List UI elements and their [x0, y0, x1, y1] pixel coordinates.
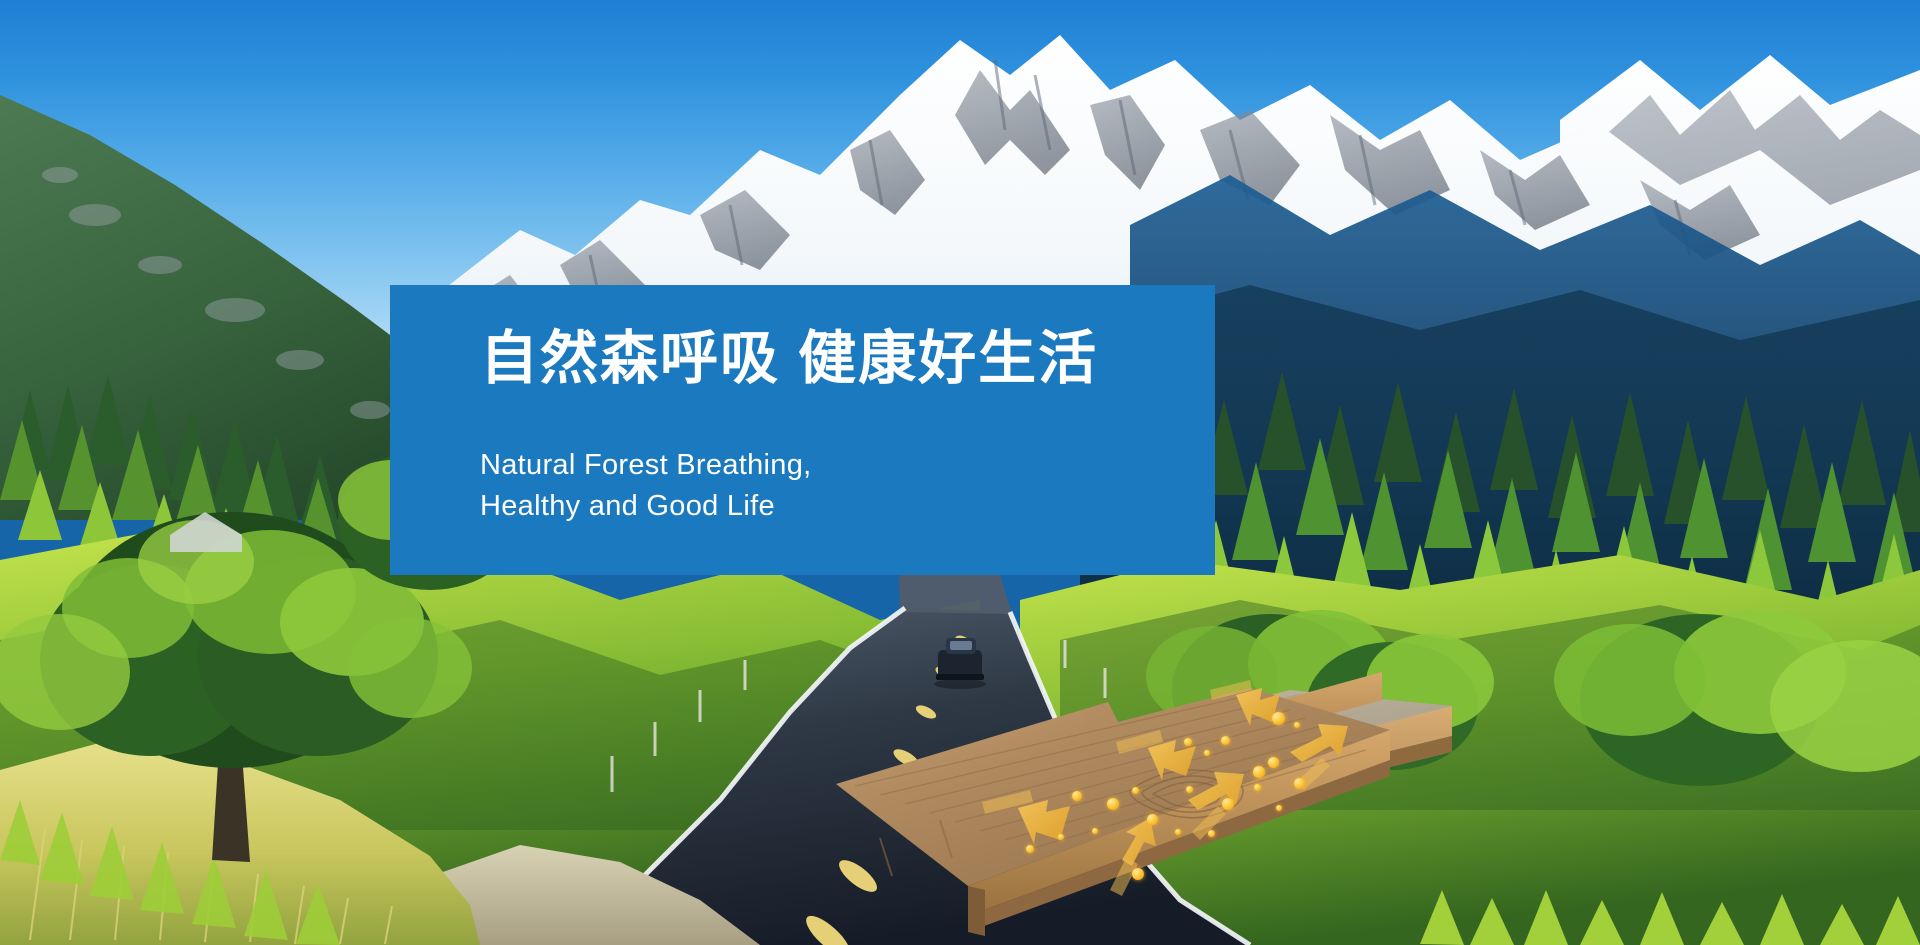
- particle: [1072, 791, 1082, 801]
- particle: [1107, 798, 1119, 810]
- particle: [1058, 834, 1064, 840]
- page-subtitle: Natural Forest Breathing, Healthy and Go…: [480, 445, 811, 526]
- particle: [1147, 814, 1158, 825]
- particle: [1026, 845, 1034, 853]
- particle: [1132, 787, 1139, 794]
- particle: [1294, 778, 1305, 789]
- subtitle-line-1: Natural Forest Breathing,: [480, 445, 811, 486]
- headline-panel: 自然森呼吸 健康好生活 Natural Forest Breathing, He…: [390, 285, 1215, 575]
- particle: [1186, 786, 1193, 793]
- particle: [1221, 736, 1230, 745]
- particle: [1222, 798, 1234, 810]
- particle: [1184, 738, 1192, 746]
- particle: [1092, 828, 1098, 834]
- particle: [1208, 830, 1215, 837]
- subtitle-line-2: Healthy and Good Life: [480, 486, 811, 527]
- particle: [1268, 757, 1279, 768]
- particle: [1254, 784, 1261, 791]
- particle: [1175, 829, 1181, 835]
- particle: [1132, 868, 1144, 880]
- particle: [1204, 750, 1210, 756]
- particle: [1253, 766, 1265, 778]
- particle: [1272, 712, 1285, 725]
- particle: [1276, 805, 1282, 811]
- hero-banner: 自然森呼吸 健康好生活 Natural Forest Breathing, He…: [0, 0, 1920, 945]
- page-title: 自然森呼吸 健康好生活: [480, 327, 1098, 392]
- particle: [1294, 722, 1300, 728]
